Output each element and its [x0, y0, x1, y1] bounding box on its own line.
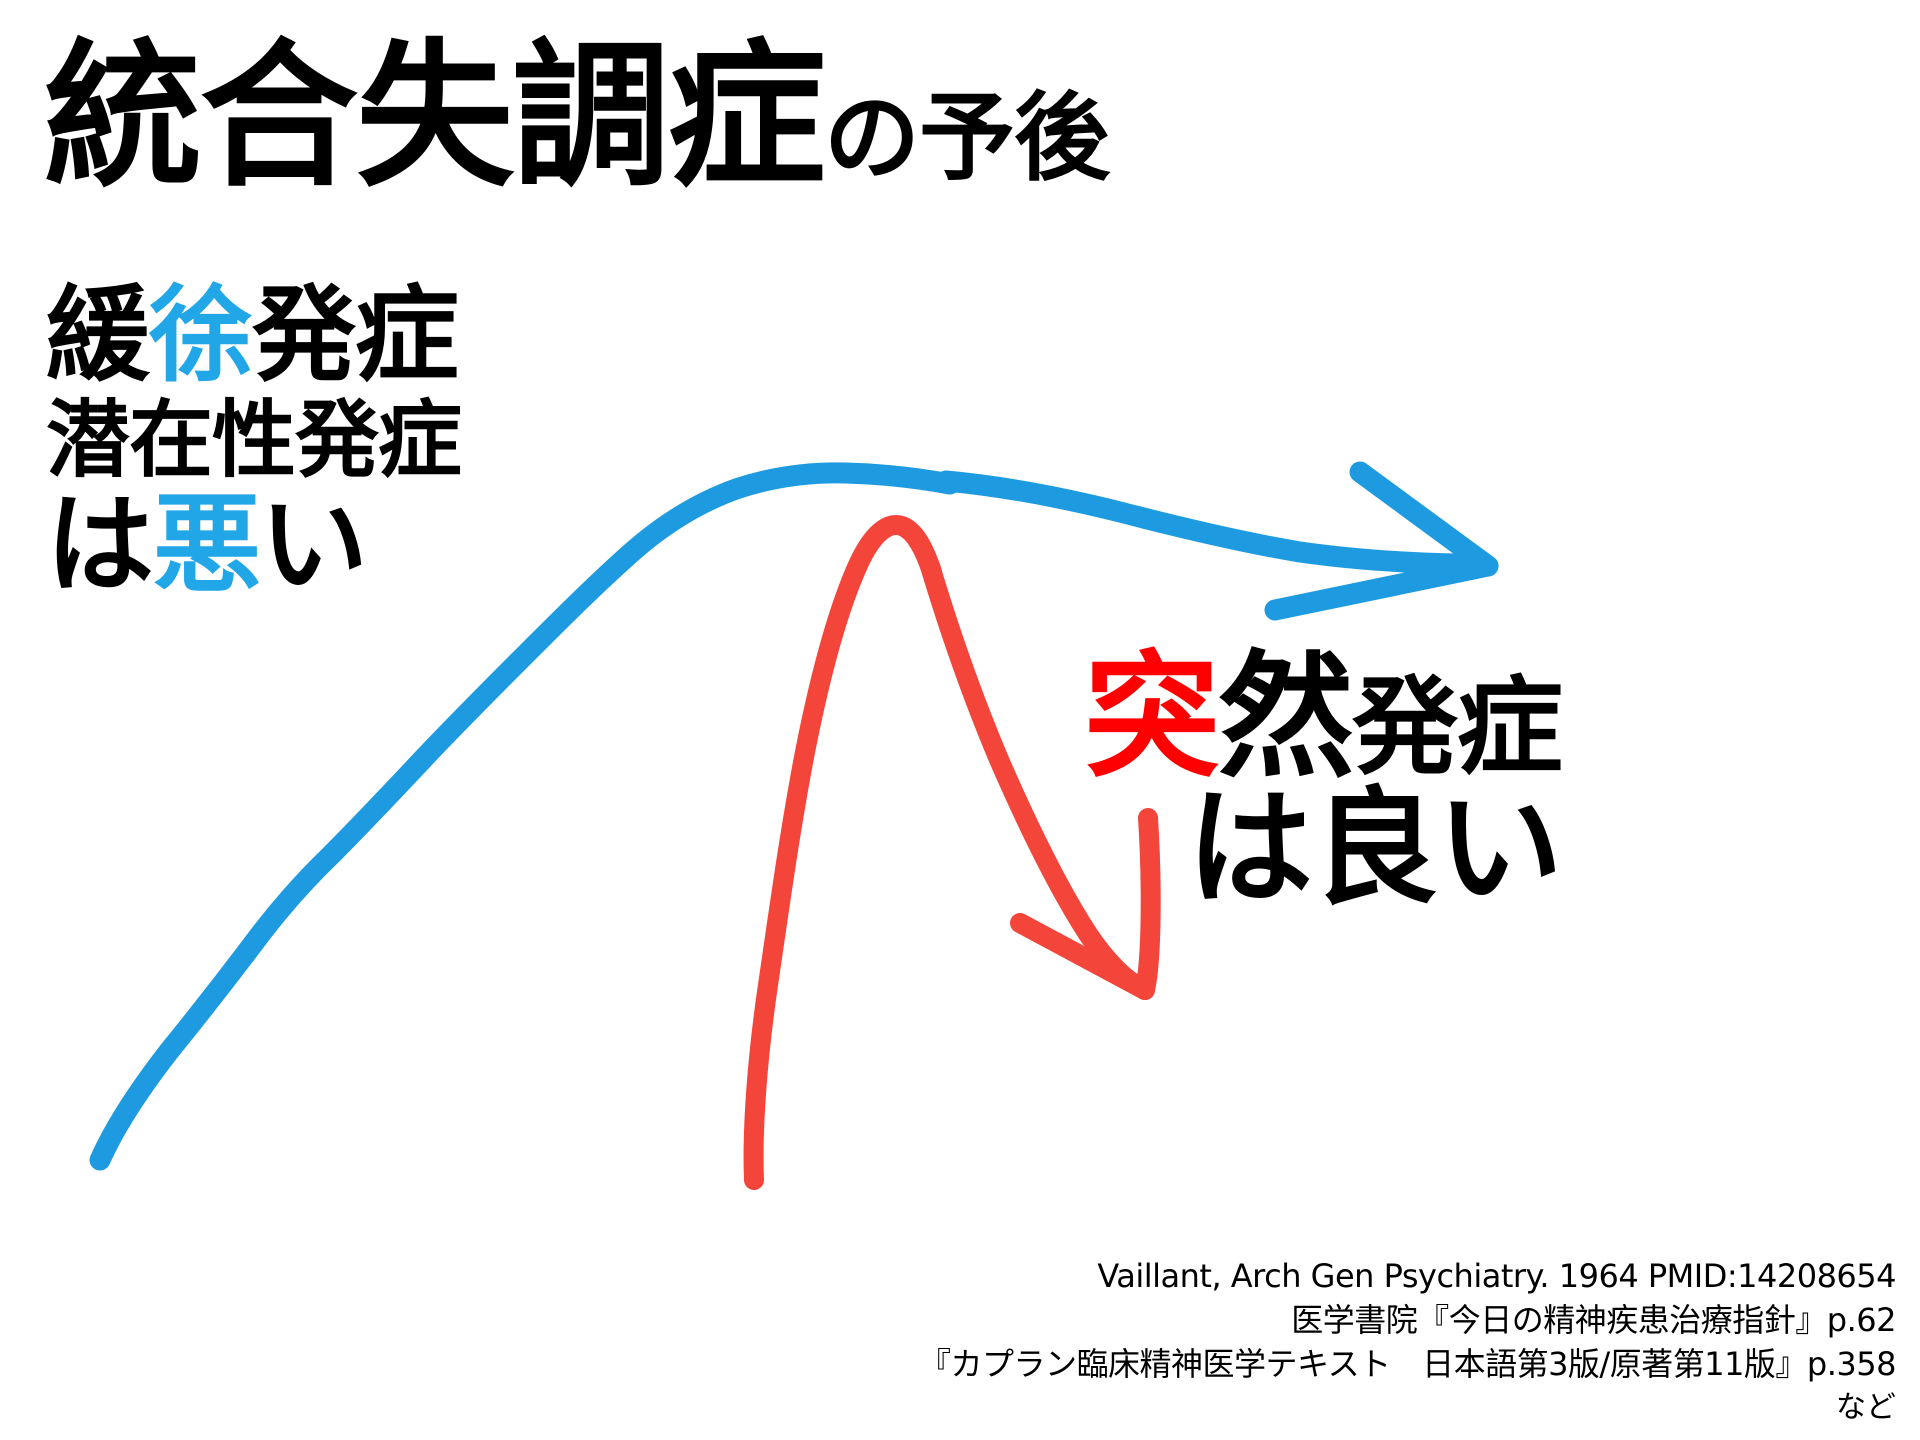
sudden-onset-line1: 突然発症 — [962, 648, 1562, 789]
citation-item-4: など — [919, 1387, 1896, 1428]
slow-onset-line1-part1: 緩 — [46, 274, 149, 396]
slide-canvas: 統合失調症の予後 緩徐発症 潜在性発症 は悪い 突然発症 は良い V — [0, 0, 1920, 1440]
prognosis-curves-graphic — [0, 0, 1920, 1440]
slow-onset-line3-accent: 悪 — [153, 483, 260, 608]
sudden-onset-line1-accent: 突 — [1084, 639, 1218, 797]
citation-item-1: Vaillant, Arch Gen Psychiatry. 1964 PMID… — [919, 1254, 1896, 1298]
sudden-onset-line2: は良い — [962, 783, 1562, 914]
slow-onset-line1-accent: 徐 — [149, 274, 252, 396]
sudden-onset-line1-part3: 発症 — [1352, 666, 1562, 789]
citation-item-2: 医学書院『今日の精神疾患治療指針』p.62 — [919, 1298, 1896, 1342]
slow-onset-line3-part1: は — [46, 483, 153, 608]
slow-onset-line1-part3: 発症 — [252, 274, 458, 396]
blue-arrow-head-lower — [1275, 566, 1488, 610]
sudden-onset-label: 突然発症 は良い — [962, 648, 1562, 914]
citation-item-3: 『カプラン臨床精神医学テキスト 日本語第3版/原著第11版』p.358 — [919, 1342, 1896, 1386]
red-onset-spike — [754, 525, 932, 1180]
slow-onset-line1: 緩徐発症 — [46, 280, 461, 390]
slow-onset-label: 緩徐発症 潜在性発症 は悪い — [46, 280, 461, 604]
citation-block: Vaillant, Arch Gen Psychiatry. 1964 PMID… — [919, 1254, 1896, 1428]
slow-onset-line3: は悪い — [46, 489, 461, 603]
slow-onset-line2: 潜在性発症 — [46, 396, 461, 485]
slow-onset-line3-part3: い — [260, 483, 367, 608]
sudden-onset-line1-part2: 然 — [1218, 639, 1352, 797]
